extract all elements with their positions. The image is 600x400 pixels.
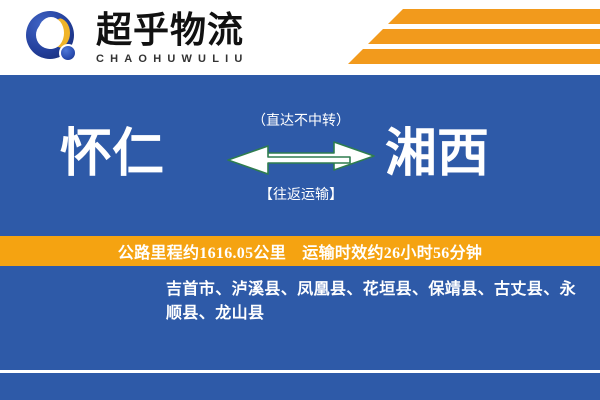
- coverage-areas-text: 吉首市、泸溪县、凤凰县、花垣县、保靖县、古丈县、永顺县、龙山县: [166, 278, 584, 326]
- brand-wordmark: 超乎物流 CHAOHUWULIU: [96, 10, 326, 66]
- header-stripe-1: [388, 9, 600, 24]
- route-note-roundtrip: 【往返运输】: [222, 187, 380, 205]
- route-panel: 怀仁 （直达不中转） 【往返运输】 湘西: [0, 75, 600, 236]
- destination-city-label: 湘西: [385, 127, 489, 183]
- origin-city-label: 怀仁: [60, 127, 164, 183]
- brand-logo-icon: [26, 11, 80, 65]
- ground-divider-line: [0, 370, 600, 373]
- coverage-panel: 吉首市、泸溪县、凤凰县、花垣县、保靖县、古丈县、永顺县、龙山县: [0, 266, 600, 400]
- logistics-route-banner: 超乎物流 CHAOHUWULIU 怀仁 （直达不中转） 【往返运输】 湘西 公路…: [0, 0, 600, 400]
- brand-name-cn: 超乎物流: [96, 10, 326, 50]
- header-stripe-2: [368, 29, 600, 44]
- route-info-text: 公路里程约1616.05公里 运输时效约26小时56分钟: [118, 239, 482, 263]
- header-stripe-3: [348, 49, 600, 64]
- route-note-direct: （直达不中转）: [222, 113, 380, 131]
- route-connector: （直达不中转） 【往返运输】: [222, 113, 380, 209]
- banner-header: 超乎物流 CHAOHUWULIU: [0, 0, 600, 75]
- logo-accent-dot: [59, 44, 77, 62]
- brand-name-en: CHAOHUWULIU: [96, 52, 326, 66]
- logo-crescent-cutout: [38, 17, 64, 49]
- bidirectional-arrow-icon: [222, 136, 380, 180]
- route-info-bar: 公路里程约1616.05公里 运输时效约26小时56分钟: [0, 236, 600, 266]
